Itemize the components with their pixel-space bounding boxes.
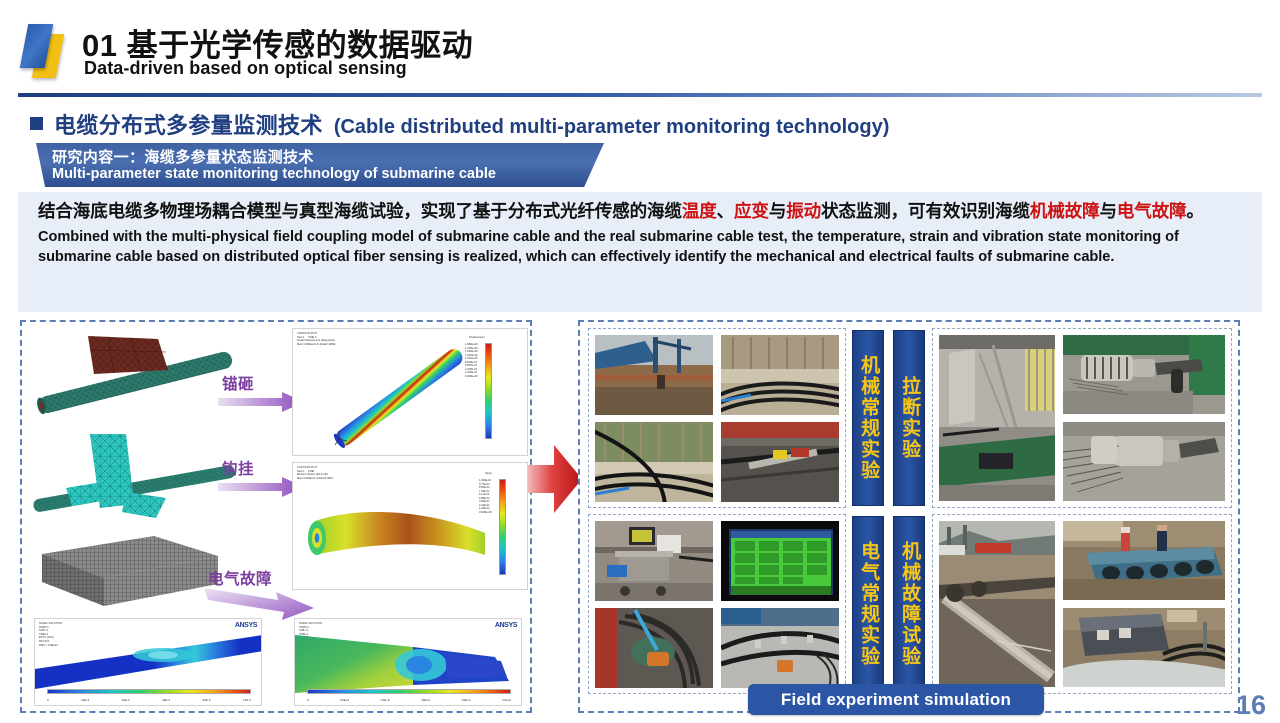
photo-cable-loop-floor	[720, 607, 840, 689]
page-number: 16	[1236, 690, 1266, 721]
photo-coiled-cable-2	[594, 421, 714, 503]
photo-test-bench-instruments	[594, 520, 714, 602]
para-cn-seg3: 与	[769, 201, 786, 221]
photo-group-tensile-break	[932, 328, 1232, 508]
photo-group-mechanical-routine	[588, 328, 846, 508]
para-cn-seg6: 。	[1187, 201, 1204, 221]
sim-card-3-vendor-text: ANSYS	[235, 622, 257, 629]
vertical-label-tensile-break: 拉断实验	[893, 330, 925, 506]
red-right-arrow-icon	[528, 443, 582, 515]
photo-tensile-workshop-image	[939, 335, 1056, 502]
sim-card-ansys-joint: NODAL SOLUTION STEP=1 SUB =1 TIME=1 EF (…	[294, 618, 522, 706]
photo-broken-cable-clamp-2	[1062, 421, 1226, 502]
photo-harbour-cable-pull-image	[939, 521, 1056, 688]
slide-header: 01 基于光学传感的数据驱动 Data-driven based on opti…	[0, 0, 1280, 95]
arrow-label-hooking: 钩挂	[222, 457, 254, 479]
photo-cable-cross-section-probe-image	[595, 608, 714, 689]
sim-card-2-plot	[301, 503, 491, 579]
sim-card-1-plot	[319, 343, 479, 451]
sim-card-2-meta: CONTOUR PLOT Step 1 TIME Element Strains…	[297, 466, 333, 480]
photo-tensile-workshop	[938, 334, 1056, 502]
photo-workboat-crew-image	[1063, 521, 1226, 601]
section-heading-cn: 电缆分布式多参量监测技术	[54, 108, 323, 140]
sim-card-4-colorbar-ticks: 0.60E+5.12E+6.18E+6.24E+6.27E+6	[307, 698, 511, 702]
sim-card-displacement: CONTOUR PLOT Step 1 TIME 0 Nodal Displac…	[292, 328, 528, 456]
photo-workboat-crew	[1062, 520, 1226, 601]
slide-root: 01 基于光学传感的数据驱动 Data-driven based on opti…	[0, 0, 1280, 723]
photo-broken-cable-clamp-1	[1062, 334, 1226, 415]
fea-mesh-anchor-strike-icon	[30, 330, 240, 418]
para-cn-hl-strain: 应变	[734, 201, 769, 221]
para-cn-seg5: 与	[1099, 201, 1116, 221]
sim-card-1-colorbar-title: Displacement	[469, 336, 485, 340]
simulation-panel: 锚砸 钩挂 电气故障 CONTOUR PLOT Step 1 TIME 0 No…	[20, 320, 532, 713]
sim-card-3-vendor: ANSYS	[235, 622, 257, 629]
sim-card-3-colorbar	[47, 689, 251, 694]
sim-card-3-plot	[35, 633, 262, 693]
section-heading-en: (Cable distributed multi-parameter monit…	[334, 116, 890, 139]
photo-monitoring-software-screen	[720, 520, 840, 602]
header-divider	[18, 93, 1262, 97]
sim-card-ansys-cable: NODAL SOLUTION STEP=1 SUB =1 TIME=1 EPTO…	[34, 618, 262, 706]
para-cn-seg4: 状态监测，可有效识别海缆	[821, 201, 1030, 221]
ribbon-title-cn: 研究内容一：海缆多参量状态监测技术	[52, 146, 314, 167]
para-cn-hl-elec-fault: 电气故障	[1117, 201, 1187, 221]
photo-broken-cable-clamp-2-image	[1063, 422, 1226, 502]
photo-monitoring-software-screen-image	[721, 521, 840, 602]
sim-card-strain: CONTOUR PLOT Step 1 TIME Element Strains…	[292, 462, 528, 590]
photo-coiled-cable-2-image	[595, 422, 714, 503]
summary-paragraph-cn: 结合海底电缆多物理场耦合模型与真型海缆试验，实现了基于分布式光纤传感的海缆温度、…	[38, 198, 1248, 225]
section-heading: 电缆分布式多参量监测技术 (Cable distributed multi-pa…	[30, 108, 889, 140]
photo-test-bench-instruments-image	[595, 521, 714, 602]
photo-vessel-cable-deck-image	[1063, 608, 1226, 688]
vertical-label-mechanical-fault: 机械故障试验	[893, 516, 925, 692]
photo-shipyard-crane-image	[595, 335, 714, 416]
photo-cable-joint-ground-image	[721, 422, 840, 503]
photo-cable-joint-ground	[720, 421, 840, 503]
sim-card-2-colorbar-title: Strain	[485, 472, 492, 476]
fea-mesh-electrical-block-icon	[34, 532, 224, 610]
para-cn-seg2: 、	[717, 201, 734, 221]
sim-card-1-colorbar-ticks: 1.982E+00 1.762E+00 1.542E+00 1.321E+00 …	[465, 343, 478, 378]
page-title-en: Data-driven based on optical sensing	[84, 58, 407, 79]
para-cn-seg1: 结合海底电缆多物理场耦合模型与真型海缆试验，实现了基于分布式光纤传感的海缆	[38, 201, 682, 221]
photo-coiled-cable-1	[720, 334, 840, 416]
subsection-ribbon: 研究内容一：海缆多参量状态监测技术 Multi-parameter state …	[36, 143, 604, 187]
sim-card-2-colorbar	[499, 479, 506, 575]
sim-card-4-colorbar	[307, 689, 511, 694]
simulation-panel-content: 锚砸 钩挂 电气故障 CONTOUR PLOT Step 1 TIME 0 No…	[22, 322, 530, 711]
para-cn-hl-mech-fault: 机械故障	[1030, 201, 1100, 221]
fea-mesh-hooking-icon	[30, 426, 240, 526]
photo-shipyard-crane	[594, 334, 714, 416]
para-cn-hl-vibration: 振动	[786, 201, 821, 221]
photo-cable-loop-floor-image	[721, 608, 840, 689]
photo-group-mechanical-fault	[932, 514, 1232, 694]
sim-card-4-vendor: ANSYS	[495, 622, 517, 629]
field-experiment-banner: Field experiment simulation	[748, 684, 1044, 715]
purple-arrow-3-icon	[204, 586, 314, 620]
sim-card-4-vendor-text: ANSYS	[495, 622, 517, 629]
sim-card-3-colorbar-ticks: 0.16E-3.33E-3.49E-3.66E-3.74E-3	[47, 698, 251, 702]
sim-card-1-colorbar	[485, 343, 492, 439]
para-cn-hl-temperature: 温度	[682, 201, 717, 221]
field-experiment-panel: 机械常规实验 拉断实验	[578, 320, 1240, 713]
photo-coiled-cable-1-image	[721, 335, 840, 416]
summary-paragraph-en: Combined with the multi-physical field c…	[38, 228, 1248, 267]
photo-harbour-cable-pull	[938, 520, 1056, 688]
ribbon-title-en: Multi-parameter state monitoring technol…	[52, 166, 496, 182]
photo-broken-cable-clamp-1-image	[1063, 335, 1226, 415]
photo-vessel-cable-deck	[1062, 607, 1226, 688]
square-bullet-icon	[30, 117, 43, 130]
vertical-label-mechanical-routine: 机械常规实验	[852, 330, 884, 506]
summary-paragraph-block: 结合海底电缆多物理场耦合模型与真型海缆试验，实现了基于分布式光纤传感的海缆温度、…	[18, 192, 1262, 312]
brand-logo	[22, 22, 72, 78]
arrow-label-anchor-strike: 锚砸	[222, 372, 254, 394]
vertical-label-electrical-routine: 电气常规实验	[852, 516, 884, 692]
sim-card-4-plot	[295, 631, 522, 695]
photo-group-electrical-routine	[588, 514, 846, 694]
photo-cable-cross-section-probe	[594, 607, 714, 689]
sim-card-2-colorbar-ticks: 1.099E-01 9.77E-02 8.55E-02 7.33E-02 6.1…	[479, 479, 492, 514]
field-experiment-content: 机械常规实验 拉断实验	[580, 322, 1238, 711]
